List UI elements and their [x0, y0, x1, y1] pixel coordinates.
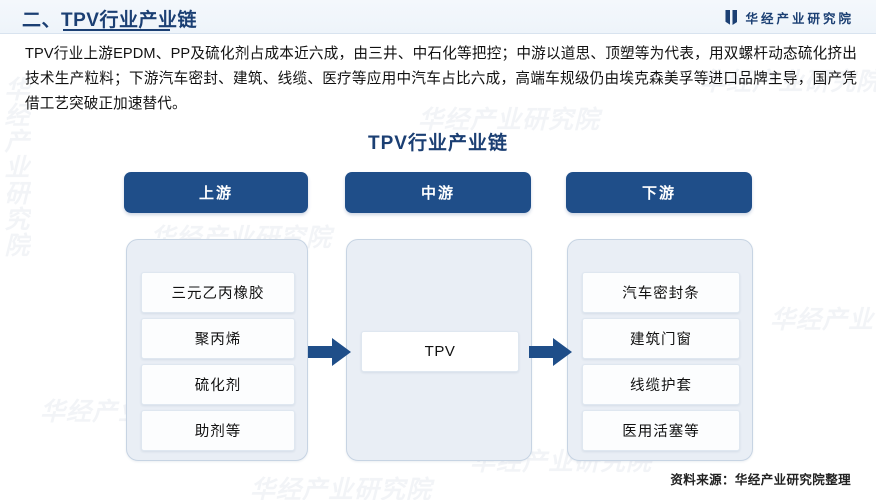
panel-midstream: TPV: [346, 239, 532, 461]
list-item: 助剂等: [141, 410, 295, 451]
list-item: 硫化剂: [141, 364, 295, 405]
list-item: 汽车密封条: [582, 272, 740, 313]
list-item: 建筑门窗: [582, 318, 740, 359]
stage-header-upstream: 上游: [124, 172, 308, 213]
list-item: TPV: [361, 331, 519, 372]
list-item: 医用活塞等: [582, 410, 740, 451]
arrow-right-icon: [529, 337, 573, 367]
list-item: 线缆护套: [582, 364, 740, 405]
industry-chain-diagram: 上游 中游 下游 三元乙丙橡胶 聚丙烯 硫化剂 助剂等 TPV 汽车密封条 建筑…: [0, 0, 876, 500]
list-item: 三元乙丙橡胶: [141, 272, 295, 313]
stage-header-midstream: 中游: [345, 172, 531, 213]
panel-upstream: 三元乙丙橡胶 聚丙烯 硫化剂 助剂等: [126, 239, 308, 461]
arrow-right-icon: [308, 337, 352, 367]
stage-header-downstream: 下游: [566, 172, 752, 213]
panel-downstream: 汽车密封条 建筑门窗 线缆护套 医用活塞等: [567, 239, 753, 461]
source-note: 资料来源：华经产业研究院整理: [670, 469, 851, 488]
list-item: 聚丙烯: [141, 318, 295, 359]
